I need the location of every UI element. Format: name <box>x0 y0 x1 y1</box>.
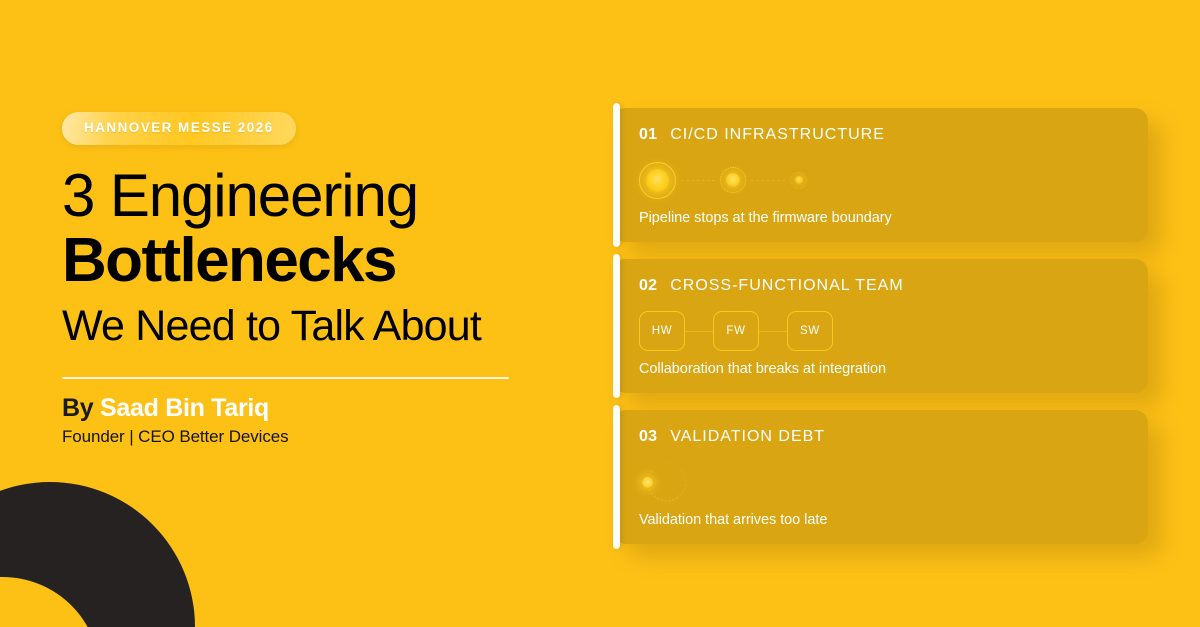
page-title: 3 Engineering Bottlenecks We Need to Tal… <box>62 165 532 353</box>
card-header: 03 VALIDATION DEBT <box>639 428 1126 446</box>
card-accent-bar <box>613 405 620 549</box>
arc-yellow <box>0 577 100 627</box>
spinner-ring <box>647 462 687 502</box>
card-header: 02 CROSS-FUNCTIONAL TEAM <box>639 277 1126 295</box>
pipeline-nodes-icon <box>639 162 807 199</box>
dotted-spinner-icon <box>641 456 693 508</box>
decorative-corner-arcs <box>0 437 230 627</box>
card-header: 01 CI/CD INFRASTRUCTURE <box>639 126 1126 144</box>
card-description: Collaboration that breaks at integration <box>639 361 1126 377</box>
pipeline-link-1 <box>681 180 715 181</box>
card-number: 03 <box>639 428 657 446</box>
card-description: Validation that arrives too late <box>639 512 1126 528</box>
card-title: VALIDATION DEBT <box>670 428 825 446</box>
card-visual: HW FW SW <box>639 305 1126 357</box>
arc-dark <box>0 482 195 627</box>
author-role: Founder | CEO Better Devices <box>62 427 532 447</box>
author-name: Saad Bin Tariq <box>100 394 269 422</box>
hero-section: HANNOVER MESSE 2026 3 Engineering Bottle… <box>62 112 532 447</box>
author-prefix: By <box>62 394 93 422</box>
author-line: By Saad Bin Tariq <box>62 394 532 424</box>
card-title: CROSS-FUNCTIONAL TEAM <box>670 277 903 295</box>
card-number: 02 <box>639 277 657 295</box>
event-badge: HANNOVER MESSE 2026 <box>62 112 296 145</box>
poster-canvas: HANNOVER MESSE 2026 3 Engineering Bottle… <box>0 0 1200 627</box>
bottleneck-card-1[interactable]: 01 CI/CD INFRASTRUCTURE Pipeline stops a… <box>613 108 1148 242</box>
divider-rule <box>62 377 509 379</box>
bottleneck-card-2[interactable]: 02 CROSS-FUNCTIONAL TEAM HW FW SW Collab… <box>613 259 1148 393</box>
bottleneck-card-3[interactable]: 03 VALIDATION DEBT Validation that arriv… <box>613 410 1148 544</box>
team-node-sw: SW <box>787 311 833 351</box>
pipeline-node-3-icon <box>790 172 807 189</box>
card-number: 01 <box>639 126 657 144</box>
card-visual <box>639 154 1126 206</box>
headline-line-1: 3 Engineering <box>62 165 532 226</box>
card-description: Pipeline stops at the firmware boundary <box>639 210 1126 226</box>
pipeline-link-2 <box>751 180 785 181</box>
team-node-hw: HW <box>639 311 685 351</box>
card-visual <box>639 456 1126 508</box>
team-link-1 <box>685 331 713 332</box>
team-link-2 <box>759 331 787 332</box>
headline-line-3: We Need to Talk About <box>62 301 532 352</box>
headline-line-2: Bottlenecks <box>62 228 532 294</box>
team-chain-icon: HW FW SW <box>639 311 833 351</box>
card-accent-bar <box>613 254 620 398</box>
spinner-head-dot <box>642 477 653 488</box>
card-title: CI/CD INFRASTRUCTURE <box>670 126 885 144</box>
team-node-fw: FW <box>713 311 759 351</box>
pipeline-node-2-icon <box>720 167 746 193</box>
bottleneck-card-list: 01 CI/CD INFRASTRUCTURE Pipeline stops a… <box>613 108 1148 544</box>
pipeline-node-1-icon <box>639 162 676 199</box>
card-accent-bar <box>613 103 620 247</box>
